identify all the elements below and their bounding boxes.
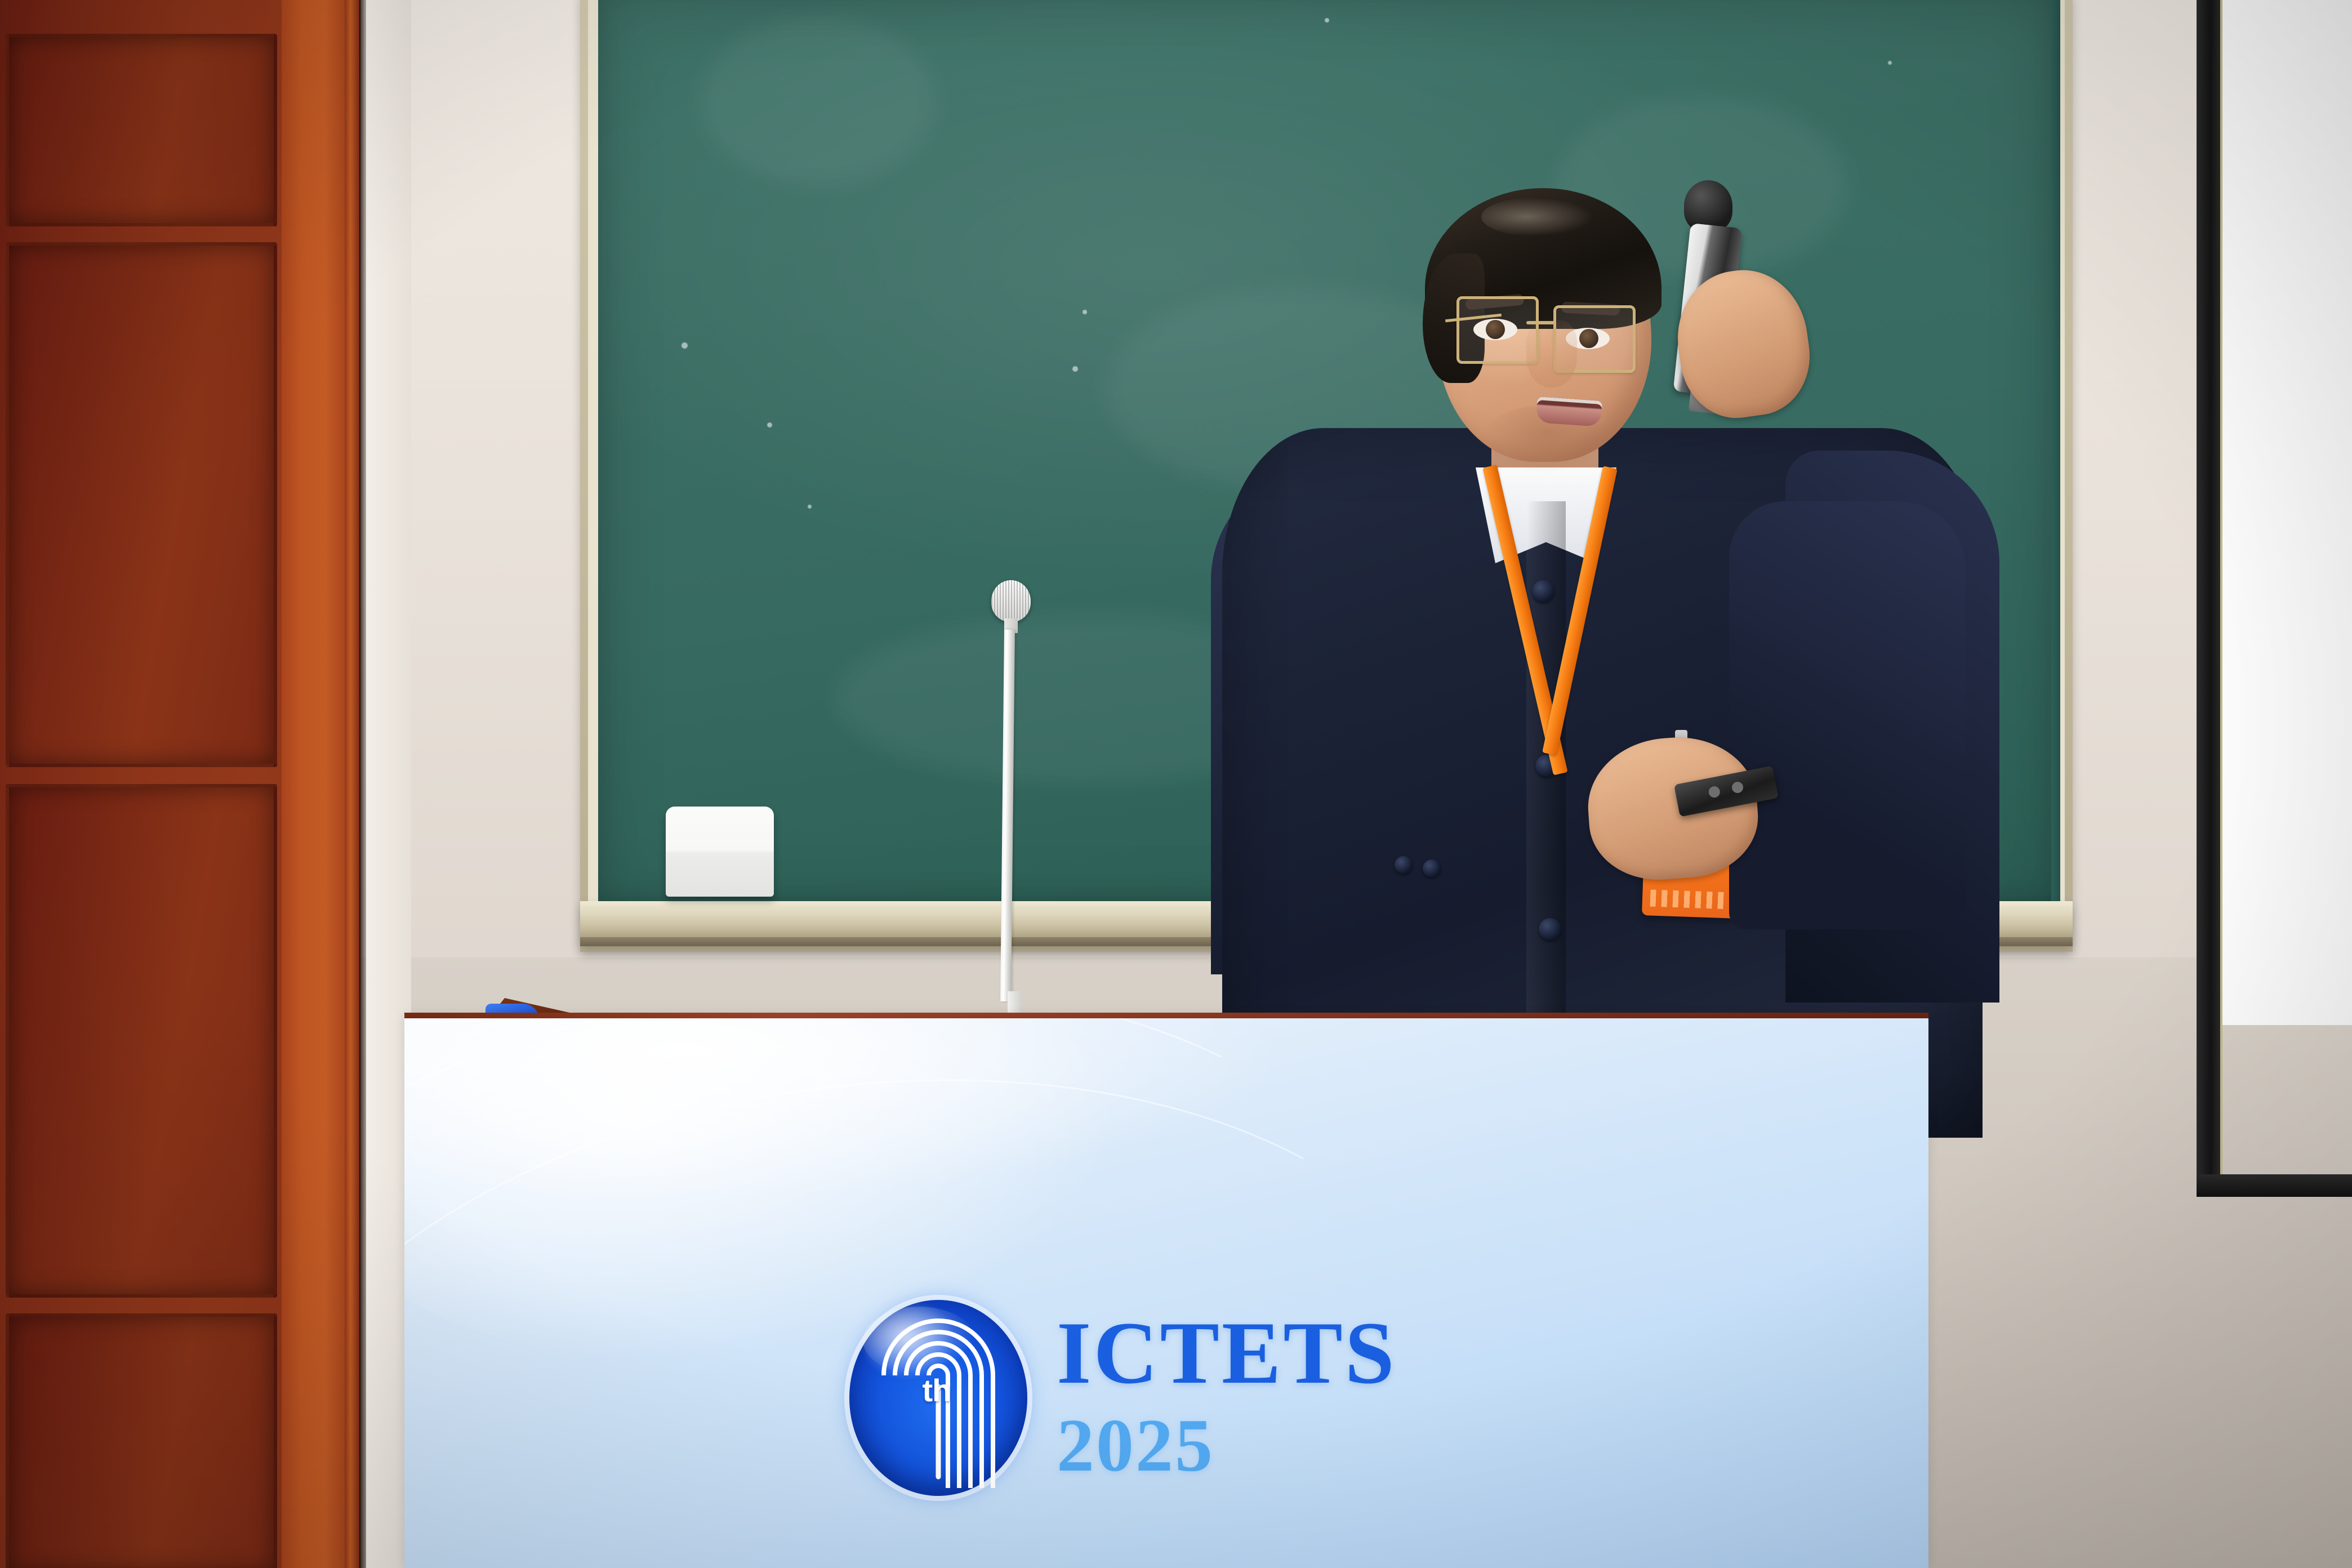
projector-screen-frame (2197, 0, 2220, 1194)
wooden-door[interactable] (0, 0, 372, 1568)
door-panel-inset-4 (6, 1313, 277, 1568)
ninth-edition-emblem-icon: th (849, 1300, 1027, 1496)
conference-logo: th ICTETS 2025 (849, 1300, 1397, 1496)
door-panel-inset-3 (6, 784, 277, 1298)
emblem-ordinal-suffix: th (923, 1372, 951, 1409)
badge-graphic-strip (1650, 889, 1724, 909)
clicker-button-1[interactable] (1708, 785, 1721, 798)
conference-acronym: ICTETS (1057, 1311, 1397, 1396)
projector-screen-surface (2213, 0, 2352, 1025)
handheld-microphone-head[interactable] (1684, 180, 1732, 232)
jacket-button-3 (1539, 918, 1561, 941)
cuff-button-1 (1395, 856, 1413, 874)
speaker-person (1340, 186, 2016, 1087)
conference-year: 2025 (1057, 1406, 1397, 1485)
gooseneck-microphone-head[interactable] (991, 580, 1031, 622)
clicker-button-2[interactable] (1731, 781, 1744, 794)
photo-scene: th ICTETS 2025 (0, 0, 2352, 1568)
cuff-button-2 (1423, 859, 1441, 877)
door-panel-inset-2 (6, 242, 277, 767)
speaker-mouth (1536, 397, 1603, 427)
door-panel-inset-1 (6, 34, 277, 226)
speaker-hair-highlight (1481, 197, 1594, 237)
podium-banner: th ICTETS 2025 (404, 1018, 1928, 1568)
blackboard-right-edge (2051, 0, 2060, 912)
jacket-button-1 (1532, 580, 1554, 603)
speaker-right-arm (1729, 501, 1966, 929)
door-bead-molding (345, 0, 359, 1568)
conference-wordmark: ICTETS 2025 (1057, 1311, 1397, 1485)
chalkboard-eraser[interactable] (666, 807, 774, 897)
speaker-nose (1526, 320, 1577, 387)
projector-screen-foot (2197, 1174, 2352, 1197)
